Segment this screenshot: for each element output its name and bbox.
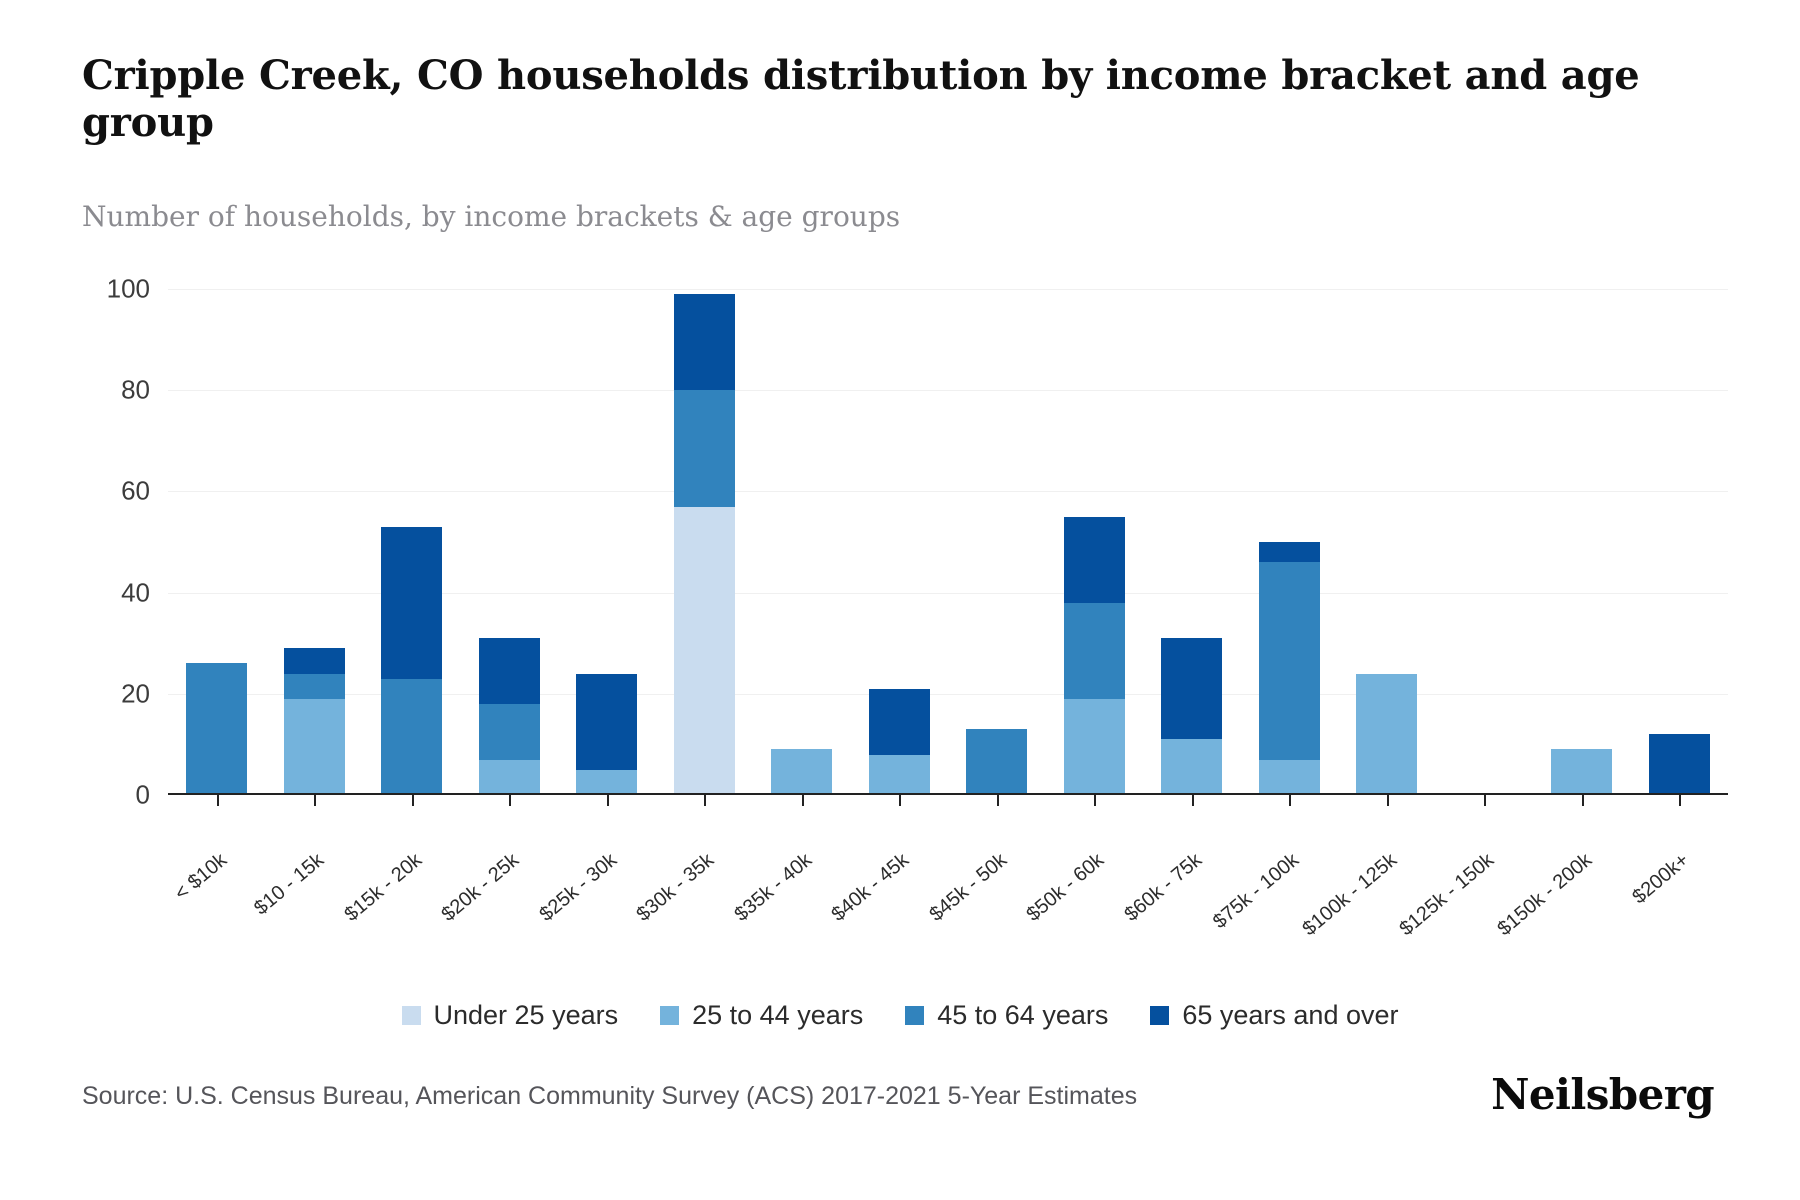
- x-axis-tick-label: $35k - 40k: [730, 849, 816, 927]
- bar-group[interactable]: [753, 289, 851, 795]
- bar-segment[interactable]: [284, 674, 345, 699]
- bar-group[interactable]: [1241, 289, 1339, 795]
- bar-group[interactable]: [461, 289, 559, 795]
- bar-group[interactable]: [1046, 289, 1144, 795]
- bar-stack[interactable]: [1649, 734, 1710, 795]
- bar-group[interactable]: [1436, 289, 1534, 795]
- legend-label: 45 to 64 years: [937, 1000, 1108, 1031]
- x-axis-tick: [997, 795, 999, 806]
- x-axis-tick-label: $125k - 150k: [1396, 849, 1499, 941]
- bar-segment[interactable]: [1259, 542, 1320, 562]
- x-axis-tick: [1289, 795, 1291, 806]
- bar-stack[interactable]: [771, 749, 832, 795]
- bar-segment[interactable]: [284, 699, 345, 795]
- legend-swatch-icon: [1150, 1006, 1169, 1025]
- bar-group[interactable]: [266, 289, 364, 795]
- y-axis-tick-label: 40: [60, 577, 150, 608]
- bar-group[interactable]: [1338, 289, 1436, 795]
- x-axis-tick-label: $40k - 45k: [828, 849, 914, 927]
- legend-item[interactable]: Under 25 years: [402, 1000, 619, 1031]
- x-axis-tick: [1679, 795, 1681, 806]
- x-axis-tick: [704, 795, 706, 806]
- legend-label: 65 years and over: [1182, 1000, 1398, 1031]
- y-axis-tick-label: 20: [60, 678, 150, 709]
- bar-segment[interactable]: [674, 294, 735, 390]
- x-axis-tick: [314, 795, 316, 806]
- bar-group[interactable]: [1631, 289, 1729, 795]
- bar-segment[interactable]: [479, 638, 540, 704]
- y-axis-tick-label: 80: [60, 375, 150, 406]
- x-axis-tick: [1484, 795, 1486, 806]
- bar-group[interactable]: [1533, 289, 1631, 795]
- legend-item[interactable]: 45 to 64 years: [905, 1000, 1108, 1031]
- x-axis-tick-label: $10 - 15k: [250, 849, 329, 920]
- legend-label: 25 to 44 years: [692, 1000, 863, 1031]
- bar-segment[interactable]: [1161, 638, 1222, 739]
- bar-segment[interactable]: [186, 663, 247, 795]
- bar-stack[interactable]: [1551, 749, 1612, 795]
- legend-swatch-icon: [660, 1006, 679, 1025]
- x-axis-tick: [1094, 795, 1096, 806]
- plot-wrapper: < $10k$10 - 15k$15k - 20k$20k - 25k$25k …: [0, 255, 1800, 895]
- chart-legend: Under 25 years25 to 44 years45 to 64 yea…: [0, 1000, 1800, 1031]
- x-axis-tick-label: $200k+: [1629, 849, 1694, 909]
- x-axis-tick-label: $75k - 100k: [1209, 849, 1304, 934]
- bar-segment[interactable]: [1259, 760, 1320, 795]
- bar-segment[interactable]: [1649, 734, 1710, 795]
- x-axis-tick-label: $20k - 25k: [438, 849, 524, 927]
- bar-group[interactable]: [948, 289, 1046, 795]
- bar-group[interactable]: [363, 289, 461, 795]
- bar-stack[interactable]: [1161, 638, 1222, 795]
- bar-stack[interactable]: [674, 294, 735, 795]
- bar-segment[interactable]: [674, 507, 735, 795]
- x-axis-tick: [1192, 795, 1194, 806]
- x-axis-tick-label: $30k - 35k: [633, 849, 719, 927]
- bar-segment[interactable]: [381, 527, 442, 679]
- bar-segment[interactable]: [1064, 699, 1125, 795]
- bar-segment[interactable]: [1064, 603, 1125, 699]
- bar-group[interactable]: [851, 289, 949, 795]
- bar-stack[interactable]: [284, 648, 345, 795]
- x-axis-tick: [1582, 795, 1584, 806]
- y-axis-tick-label: 0: [60, 780, 150, 811]
- x-axis-tick-label: $60k - 75k: [1120, 849, 1206, 927]
- bar-segment[interactable]: [1356, 674, 1417, 795]
- bar-stack[interactable]: [1064, 517, 1125, 795]
- x-axis-tick-label: $15k - 20k: [340, 849, 426, 927]
- bar-group[interactable]: [558, 289, 656, 795]
- legend-label: Under 25 years: [434, 1000, 619, 1031]
- x-axis-tick-label: $50k - 60k: [1023, 849, 1109, 927]
- x-axis-tick: [802, 795, 804, 806]
- bar-stack[interactable]: [576, 674, 637, 795]
- x-axis-tick: [509, 795, 511, 806]
- bar-segment[interactable]: [1161, 739, 1222, 795]
- x-axis-tick-label: < $10k: [170, 849, 231, 906]
- brand-logo: Neilsberg: [1491, 1070, 1714, 1119]
- bar-segment[interactable]: [479, 760, 540, 795]
- legend-item[interactable]: 65 years and over: [1150, 1000, 1398, 1031]
- page-title: Cripple Creek, CO households distributio…: [82, 52, 1642, 146]
- bar-segment[interactable]: [479, 704, 540, 760]
- bar-segment[interactable]: [576, 674, 637, 770]
- x-axis-tick-label: $100k - 125k: [1298, 849, 1401, 941]
- y-axis-tick-label: 100: [60, 274, 150, 305]
- x-axis-line: [168, 793, 1728, 795]
- bar-segment[interactable]: [771, 749, 832, 795]
- bar-segment[interactable]: [869, 755, 930, 795]
- x-axis-tick: [899, 795, 901, 806]
- legend-swatch-icon: [905, 1006, 924, 1025]
- x-axis-tick: [217, 795, 219, 806]
- x-axis-tick-label: $150k - 200k: [1493, 849, 1596, 941]
- bar-stack[interactable]: [479, 638, 540, 795]
- bar-segment[interactable]: [381, 679, 442, 795]
- legend-swatch-icon: [402, 1006, 421, 1025]
- x-axis-tick: [1387, 795, 1389, 806]
- x-axis-tick: [412, 795, 414, 806]
- bar-segment[interactable]: [869, 689, 930, 755]
- bar-segment[interactable]: [1064, 517, 1125, 603]
- bar-group[interactable]: [1143, 289, 1241, 795]
- legend-item[interactable]: 25 to 44 years: [660, 1000, 863, 1031]
- x-axis-tick-label: $25k - 30k: [535, 849, 621, 927]
- bar-stack[interactable]: [1356, 674, 1417, 795]
- chart-page: Cripple Creek, CO households distributio…: [0, 0, 1800, 1200]
- bar-group[interactable]: [168, 289, 266, 795]
- source-note: Source: U.S. Census Bureau, American Com…: [82, 1082, 1137, 1111]
- bar-stack[interactable]: [869, 689, 930, 795]
- bars-layer: [168, 289, 1728, 795]
- bar-segment[interactable]: [1259, 562, 1320, 759]
- bar-stack[interactable]: [1259, 542, 1320, 795]
- chart-subtitle: Number of households, by income brackets…: [82, 200, 900, 233]
- x-axis-tick: [607, 795, 609, 806]
- bar-segment[interactable]: [284, 648, 345, 673]
- bar-segment[interactable]: [1551, 749, 1612, 795]
- bar-group[interactable]: [656, 289, 754, 795]
- bar-segment[interactable]: [576, 770, 637, 795]
- bar-stack[interactable]: [966, 729, 1027, 795]
- x-axis-tick-label: $45k - 50k: [925, 849, 1011, 927]
- bar-segment[interactable]: [674, 390, 735, 506]
- plot-area: < $10k$10 - 15k$15k - 20k$20k - 25k$25k …: [168, 289, 1728, 795]
- bar-segment[interactable]: [966, 729, 1027, 795]
- bar-stack[interactable]: [381, 527, 442, 795]
- bar-stack[interactable]: [186, 663, 247, 795]
- y-axis-tick-label: 60: [60, 476, 150, 507]
